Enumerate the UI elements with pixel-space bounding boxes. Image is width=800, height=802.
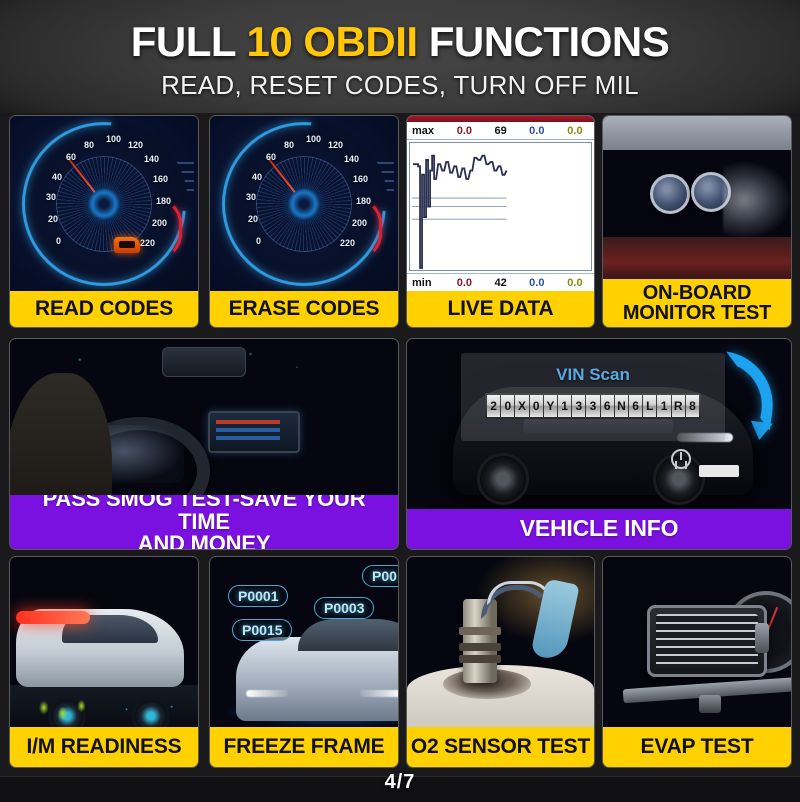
speed-tick-60: 60: [66, 152, 76, 162]
page-subtitle: READ, RESET CODES, TURN OFF MIL: [0, 70, 800, 101]
tile-freeze-frame[interactable]: P0001 P0003 P0015 P00 FREEZE FRAME: [209, 556, 399, 768]
dtc-code-pill: P00: [362, 565, 398, 587]
title-part-1: FULL: [131, 18, 247, 65]
vin-char: X: [515, 395, 528, 417]
chart-min-label: min: [407, 277, 445, 289]
tile-label-o2-sensor-test: O2 SENSOR TEST: [407, 727, 594, 767]
chart-min-v3: 0.0: [518, 277, 556, 289]
chart-max-label: max: [407, 125, 445, 137]
title-highlight: 10 OBDII: [247, 18, 418, 65]
tile-label-read-codes: READ CODES: [10, 291, 198, 327]
check-engine-icon: [114, 237, 140, 253]
vin-char: R: [672, 395, 685, 417]
speed-tick-180: 180: [156, 196, 171, 206]
vin-char: 3: [572, 395, 585, 417]
tile-pass-smog-test[interactable]: PASS SMOG TEST-SAVE YOUR TIME AND MONEY: [9, 338, 399, 550]
smog-line-1: PASS SMOG TEST-SAVE YOUR TIME: [16, 488, 392, 533]
live-data-art: max 0.0 69 0.0 0.0 min 0.0: [407, 116, 594, 291]
taillight: [16, 611, 90, 624]
chart-min-v4: 0.0: [556, 277, 594, 289]
speed2-tick-20: 20: [248, 214, 258, 224]
vin-char: 1: [657, 395, 670, 417]
tile-o2-sensor-test[interactable]: O2 SENSOR TEST: [406, 556, 595, 768]
vin-char: 2: [487, 395, 500, 417]
header-banner: FULL 10 OBDII FUNCTIONS READ, RESET CODE…: [0, 0, 800, 113]
page-indicator: 4/7: [0, 771, 800, 794]
speed-tick-140: 140: [144, 154, 159, 164]
speed-tick-120: 120: [128, 140, 143, 150]
speed2-tick-30: 30: [246, 192, 256, 202]
title-part-2: FUNCTIONS: [418, 18, 670, 65]
speed2-tick-220: 220: [340, 238, 355, 248]
chart-max-row: max 0.0 69 0.0 0.0: [407, 122, 594, 140]
vin-char: 1: [558, 395, 571, 417]
tile-label-live-data: LIVE DATA: [407, 291, 594, 327]
vin-scan-title: VIN Scan: [461, 365, 725, 385]
tile-label-pass-smog-test: PASS SMOG TEST-SAVE YOUR TIME AND MONEY: [10, 495, 398, 549]
speed2-tick-180: 180: [356, 196, 371, 206]
tile-label-vehicle-info: VEHICLE INFO: [407, 509, 791, 549]
vin-char: Y: [544, 395, 557, 417]
freeze-frame-art: P0001 P0003 P0015 P00: [210, 557, 398, 727]
vent-knob: [755, 623, 769, 653]
chart-max-v4: 0.0: [556, 125, 594, 137]
chart-max-v1: 0.0: [445, 125, 483, 137]
tile-vehicle-info[interactable]: VIN Scan 2 0 X 0 Y 1 3 3 6 N 6 L 1 R 8: [406, 338, 792, 550]
exhaust-pipe-left: [650, 174, 690, 214]
vin-char: 8: [686, 395, 699, 417]
function-grid: 0 20 30 40 60 80 100 120 140 160 180 200…: [0, 113, 800, 773]
speed2-tick-120: 120: [328, 140, 343, 150]
air-vent: [647, 605, 767, 677]
exhaust-photo: [603, 116, 791, 279]
tile-on-board-monitor-test[interactable]: ON-BOARD MONITOR TEST: [602, 115, 792, 328]
vin-char: L: [643, 395, 656, 417]
license-plate: [699, 465, 739, 477]
speed2-tick-80: 80: [284, 140, 294, 150]
speed2-tick-0: 0: [256, 236, 261, 246]
page-title: FULL 10 OBDII FUNCTIONS: [0, 18, 800, 66]
tile-label-evap-test: EVAP TEST: [603, 727, 791, 767]
speed-tick-80: 80: [84, 140, 94, 150]
vin-char: N: [615, 395, 628, 417]
speed2-tick-160: 160: [353, 174, 368, 184]
speed-tick-0: 0: [56, 236, 61, 246]
vin-char: 6: [629, 395, 642, 417]
obmt-line-2: MONITOR TEST: [623, 303, 771, 323]
car-interior-photo: [10, 339, 398, 495]
tile-label-im-readiness: I/M READINESS: [10, 727, 198, 767]
vin-char: 0: [530, 395, 543, 417]
read-codes-art: 0 20 30 40 60 80 100 120 140 160 180 200…: [10, 116, 198, 291]
chart-min-v2: 42: [483, 277, 517, 289]
speed-tick-220: 220: [140, 238, 155, 248]
brand-emblem-icon: [671, 449, 691, 469]
dtc-code-pill: P0015: [232, 619, 292, 641]
speed-tick-200: 200: [152, 218, 167, 228]
speed2-tick-100: 100: [306, 134, 321, 144]
chart-min-v1: 0.0: [445, 277, 483, 289]
vin-char: 0: [501, 395, 514, 417]
vin-scan-panel: VIN Scan 2 0 X 0 Y 1 3 3 6 N 6 L 1 R 8: [461, 353, 725, 441]
speed2-tick-60: 60: [266, 152, 276, 162]
smog-line-2: AND MONEY: [16, 533, 392, 550]
tile-label-erase-codes: ERASE CODES: [210, 291, 398, 327]
dashboard-vent-photo: [603, 557, 791, 727]
chart-svg: [410, 143, 591, 270]
speed2-tick-200: 200: [352, 218, 367, 228]
rearview-mirror: [162, 347, 246, 377]
erase-codes-art: 0 20 30 40 60 80 100 120 140 160 180 200…: [210, 116, 398, 291]
chart-min-row: min 0.0 42 0.0 0.0: [407, 273, 594, 291]
dash-switch: [699, 695, 721, 713]
speed-tick-20: 20: [48, 214, 58, 224]
speed-tick-40: 40: [52, 172, 62, 182]
speed-tick-100: 100: [106, 134, 121, 144]
ground-lights: [10, 689, 198, 723]
tile-label-on-board-monitor-test: ON-BOARD MONITOR TEST: [603, 279, 791, 327]
speed2-tick-40: 40: [252, 172, 262, 182]
chart-max-v3: 0.0: [518, 125, 556, 137]
tile-erase-codes[interactable]: 0 20 30 40 60 80 100 120 140 160 180 200…: [209, 115, 399, 328]
car-front-view: [236, 637, 398, 721]
tile-im-readiness[interactable]: I/M READINESS: [9, 556, 199, 768]
dtc-code-pill: P0001: [228, 585, 288, 607]
vin-character-strip: 2 0 X 0 Y 1 3 3 6 N 6 L 1 R 8: [485, 393, 701, 419]
speed2-tick-140: 140: [344, 154, 359, 164]
exhaust-smoke: [723, 160, 791, 240]
obmt-line-1: ON-BOARD: [623, 283, 771, 303]
tile-read-codes[interactable]: 0 20 30 40 60 80 100 120 140 160 180 200…: [9, 115, 199, 328]
infotainment-screen: [208, 411, 300, 453]
speedometer-graphic: 0 20 30 40 60 80 100 120 140 160 180 200…: [20, 120, 188, 288]
dtc-code-pill: P0003: [314, 597, 374, 619]
im-readiness-art: [10, 557, 198, 727]
live-data-chart: max 0.0 69 0.0 0.0 min 0.0: [407, 116, 594, 291]
speed-tick-30: 30: [46, 192, 56, 202]
speed-tick-160: 160: [153, 174, 168, 184]
o2-sensor-photo: [407, 557, 594, 727]
tile-label-freeze-frame: FREEZE FRAME: [210, 727, 398, 767]
vehicle-info-art: VIN Scan 2 0 X 0 Y 1 3 3 6 N 6 L 1 R 8: [407, 339, 791, 509]
vin-char: 6: [601, 395, 614, 417]
chart-max-v2: 69: [483, 125, 517, 137]
vin-char: 3: [586, 395, 599, 417]
chart-plot-area: [409, 142, 592, 271]
speedometer-graphic-2: 0 20 30 40 60 80 100 120 140 160 180 200…: [220, 120, 388, 288]
tile-evap-test[interactable]: EVAP TEST: [602, 556, 792, 768]
tile-live-data[interactable]: max 0.0 69 0.0 0.0 min 0.0: [406, 115, 595, 328]
